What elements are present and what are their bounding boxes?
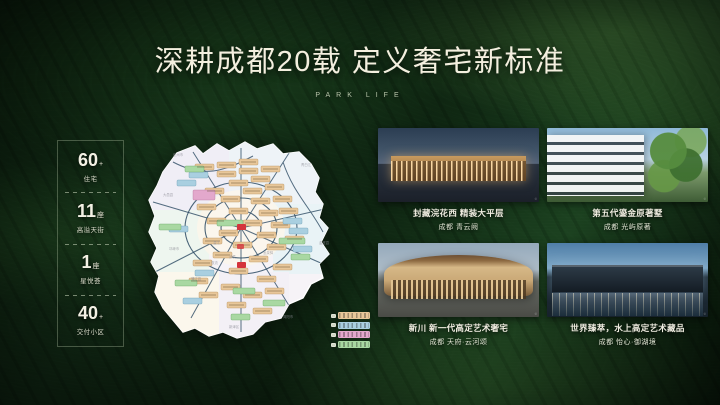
stats-panel: 60 + 住宅 11 座 高溢天街 1 座 星悦荟 40 + 交付小区 bbox=[57, 140, 124, 347]
page-subtitle: PARK LIFE bbox=[0, 92, 720, 99]
legend-marker-icon bbox=[331, 343, 336, 347]
project-card[interactable]: © 世界臻萃，水上高定艺术藏品 成都 怡心·御湖境 bbox=[547, 243, 708, 353]
stat-item: 40 + 交付小区 bbox=[58, 295, 123, 346]
project-caption: 世界臻萃，水上高定艺术藏品 成都 怡心·御湖境 bbox=[547, 322, 708, 347]
project-location: 成都 青云阙 bbox=[378, 222, 539, 232]
project-photo: © bbox=[378, 243, 539, 317]
svg-text:温江: 温江 bbox=[213, 240, 220, 245]
stat-unit: 座 bbox=[93, 263, 100, 270]
legend-item bbox=[331, 322, 371, 329]
legend-swatch bbox=[338, 331, 370, 338]
legend-item bbox=[331, 312, 371, 319]
legend-marker-icon bbox=[331, 323, 336, 327]
legend-swatch bbox=[338, 312, 370, 319]
stat-label: 星悦荟 bbox=[80, 275, 101, 285]
svg-text:金堂县: 金堂县 bbox=[319, 240, 330, 245]
svg-text:彭州市: 彭州市 bbox=[173, 152, 184, 157]
stat-item: 11 座 高溢天街 bbox=[58, 192, 123, 243]
project-caption: 封藏浣花西 精装大平层 成都 青云阙 bbox=[378, 207, 539, 232]
svg-text:大邑县: 大邑县 bbox=[163, 192, 174, 197]
map-legend bbox=[331, 312, 371, 348]
project-photo: © bbox=[378, 128, 539, 202]
stat-value: 1 bbox=[81, 253, 91, 271]
header: 深耕成都20载 定义奢宅新标准 PARK LIFE bbox=[0, 38, 720, 99]
stat-number: 40 + bbox=[78, 304, 103, 322]
stat-item: 1 座 星悦荟 bbox=[58, 244, 123, 295]
project-title: 世界臻萃，水上高定艺术藏品 bbox=[547, 322, 708, 334]
project-photo: © bbox=[547, 128, 708, 202]
stat-value: 60 bbox=[78, 151, 98, 169]
slide-root: 深耕成都20载 定义奢宅新标准 PARK LIFE 60 + 住宅 11 座 高… bbox=[0, 0, 720, 405]
watermark: © bbox=[704, 312, 706, 316]
legend-item bbox=[331, 341, 371, 348]
legend-item bbox=[331, 331, 371, 338]
project-location: 成都 怡心·御湖境 bbox=[547, 337, 708, 347]
project-card[interactable]: © 第五代鎏金原著墅 成都 光屿原著 bbox=[547, 128, 708, 238]
svg-text:邛崃市: 邛崃市 bbox=[169, 246, 180, 251]
legend-marker-icon bbox=[331, 333, 336, 337]
watermark: © bbox=[535, 312, 537, 316]
stat-number: 60 + bbox=[78, 151, 103, 169]
project-card-grid: © 封藏浣花西 精装大平层 成都 青云阙 © 第五代鎏金原著墅 成都 光屿原著 … bbox=[378, 128, 708, 353]
stat-number: 1 座 bbox=[81, 253, 99, 271]
stat-number: 11 座 bbox=[77, 202, 104, 220]
legend-swatch bbox=[338, 341, 370, 348]
project-location: 成都 天府·云河颂 bbox=[378, 337, 539, 347]
stat-value: 40 bbox=[78, 304, 98, 322]
map-container[interactable]: 彭州市 青白江 大邑县 邛崃市 蒲江县 新津区 简阳市 金堂县 温江 双流 龙泉… bbox=[133, 132, 368, 354]
svg-text:武侯: 武侯 bbox=[229, 254, 236, 259]
stat-unit: 座 bbox=[97, 212, 104, 219]
svg-text:双流: 双流 bbox=[211, 260, 218, 265]
stat-value: 11 bbox=[77, 202, 96, 220]
page-title: 深耕成都20载 定义奢宅新标准 bbox=[0, 38, 720, 80]
watermark: © bbox=[535, 197, 537, 201]
stat-label: 交付小区 bbox=[77, 326, 105, 336]
project-title: 新川 新一代高定艺术奢宅 bbox=[378, 322, 539, 334]
stat-label: 高溢天街 bbox=[77, 224, 105, 234]
project-caption: 新川 新一代高定艺术奢宅 成都 天府·云河颂 bbox=[378, 322, 539, 347]
stat-unit: + bbox=[99, 161, 103, 168]
svg-text:蒲江县: 蒲江县 bbox=[191, 276, 202, 281]
svg-text:简阳市: 简阳市 bbox=[283, 314, 294, 319]
project-card[interactable]: © 新川 新一代高定艺术奢宅 成都 天府·云河颂 bbox=[378, 243, 539, 353]
project-card[interactable]: © 封藏浣花西 精装大平层 成都 青云阙 bbox=[378, 128, 539, 238]
watermark: © bbox=[704, 197, 706, 201]
stat-label: 住宅 bbox=[84, 173, 98, 183]
stat-unit: + bbox=[99, 314, 103, 321]
project-caption: 第五代鎏金原著墅 成都 光屿原著 bbox=[547, 207, 708, 232]
svg-text:龙泉驿: 龙泉驿 bbox=[263, 250, 274, 255]
project-title: 第五代鎏金原著墅 bbox=[547, 207, 708, 219]
project-photo: © bbox=[547, 243, 708, 317]
legend-marker-icon bbox=[331, 314, 336, 318]
project-location: 成都 光屿原著 bbox=[547, 222, 708, 232]
stat-item: 60 + 住宅 bbox=[58, 141, 123, 192]
project-title: 封藏浣花西 精装大平层 bbox=[378, 207, 539, 219]
legend-swatch bbox=[338, 322, 370, 329]
svg-text:青白江: 青白江 bbox=[301, 162, 312, 167]
svg-text:新津区: 新津区 bbox=[229, 324, 240, 329]
